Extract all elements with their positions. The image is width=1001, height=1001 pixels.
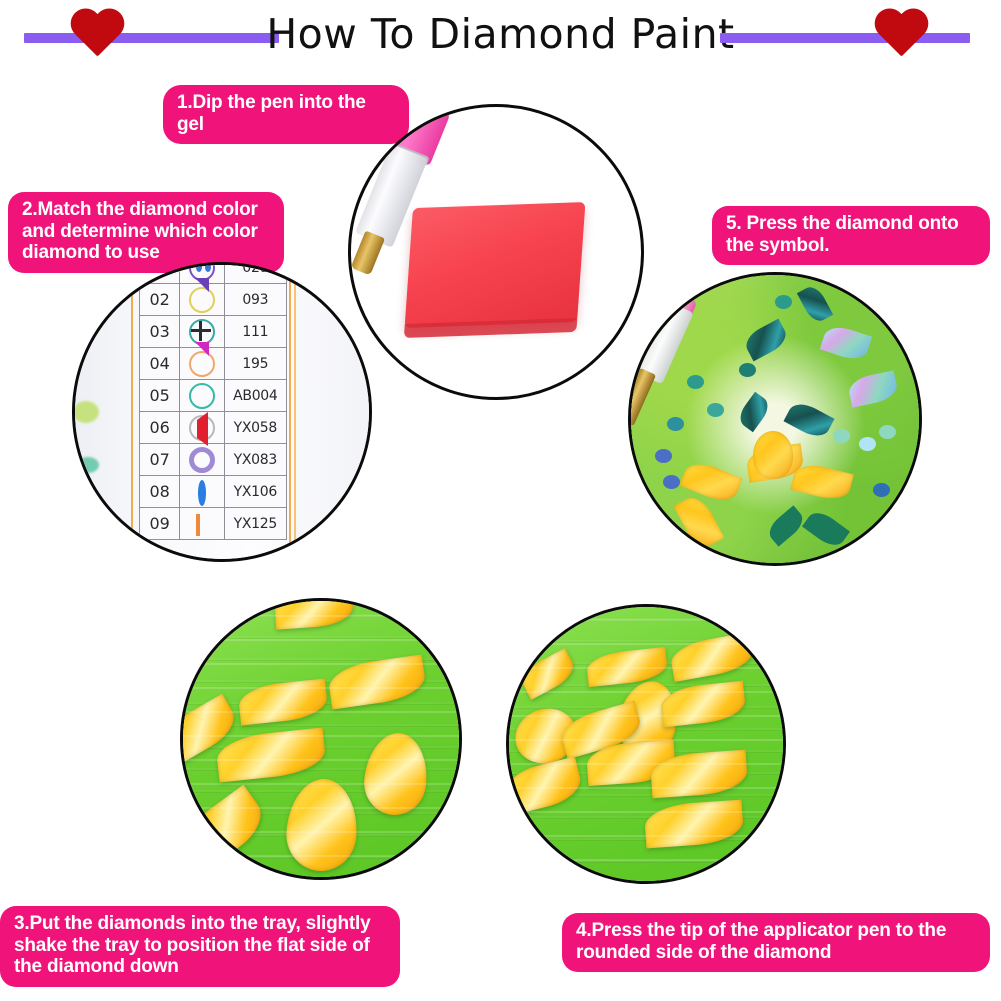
table-row: 07 YX083 [140, 444, 287, 476]
canvas-gem-small [707, 403, 724, 417]
canvas-gem-small [775, 295, 792, 309]
canvas-gem-small [667, 417, 684, 431]
teal-oval-symbol [180, 380, 224, 412]
photo-diamond-tray [180, 598, 462, 880]
blue-ring-symbol [180, 476, 224, 508]
table-row: 09 YX125 [140, 508, 287, 540]
color-code: 093 [224, 284, 286, 316]
canvas-gem [802, 507, 850, 551]
row-number: 04 [140, 348, 180, 380]
canvas-gem [847, 370, 900, 407]
row-number: 02 [140, 284, 180, 316]
row-number [140, 262, 180, 284]
heart-icon [872, 8, 930, 62]
triangle-symbol [180, 284, 224, 316]
canvas-gem [741, 319, 790, 362]
canvas-gem-small [879, 425, 896, 439]
color-legend-table: 028 02 093 03 111 04 [139, 262, 287, 540]
diamond [668, 632, 755, 682]
decorative-bar-right [720, 33, 970, 43]
diamond [659, 681, 747, 728]
photo-press-canvas [628, 272, 922, 566]
diamond-canvas [628, 272, 922, 566]
step-2-label: 2.Match the diamond color and determine … [8, 192, 284, 273]
canvas-gem-small [655, 449, 672, 463]
diamond [586, 647, 669, 687]
step-1-label: 1.Dip the pen into the gel [163, 85, 409, 144]
canvas-gem-small [687, 375, 704, 389]
color-code: YX058 [224, 412, 286, 444]
canvas-gem-small [739, 363, 756, 377]
applicator-pen [628, 286, 703, 441]
guide-line [294, 262, 296, 561]
diamond [612, 676, 684, 760]
yellow-dot-symbol [180, 444, 224, 476]
canvas-gem [783, 398, 834, 442]
pen-tip [506, 660, 519, 715]
diamond [557, 701, 644, 760]
left-arrow-symbol [180, 412, 224, 444]
canvas-gem-yellow [674, 492, 725, 552]
step-5-label: 5. Press the diamond onto the symbol. [712, 206, 990, 265]
diamond [650, 750, 749, 799]
table-row: 03 111 [140, 316, 287, 348]
color-code: YX083 [224, 444, 286, 476]
row-number: 05 [140, 380, 180, 412]
diamond [274, 598, 354, 630]
row-number: 09 [140, 508, 180, 540]
color-code: 028 [224, 262, 286, 284]
diamond [508, 701, 584, 772]
table-row: 028 [140, 262, 287, 284]
row-number: 07 [140, 444, 180, 476]
color-code: YX106 [224, 476, 286, 508]
diamond [180, 694, 242, 765]
pen-body [506, 604, 560, 678]
step-4-label: 4.Press the tip of the applicator pen to… [562, 913, 990, 972]
diamond [517, 648, 579, 700]
chart-paper: 028 02 093 03 111 04 [72, 262, 372, 562]
infographic-canvas: How To Diamond Paint 1.Dip the pen into … [0, 0, 1001, 1001]
table-row: 04 195 [140, 348, 287, 380]
color-code: YX125 [224, 508, 286, 540]
green-leaf-symbol [180, 508, 224, 540]
diamond [644, 800, 745, 849]
magenta-triangle-symbol [180, 348, 224, 380]
step-3-label: 3.Put the diamonds into the tray, slight… [0, 906, 400, 987]
canvas-gem-active [753, 431, 793, 479]
row-number: 03 [140, 316, 180, 348]
row-number: 08 [140, 476, 180, 508]
diamond-tray [180, 598, 462, 880]
gel-pad [405, 202, 586, 328]
table-row: 05 AB004 [140, 380, 287, 412]
canvas-gem [797, 283, 833, 325]
applicator-pen [506, 604, 570, 734]
color-code: 111 [224, 316, 286, 348]
canvas-gem [735, 392, 773, 432]
pen-tip [628, 368, 656, 426]
row-number: 06 [140, 412, 180, 444]
diamond [237, 679, 328, 726]
table-row: 06 YX058 [140, 412, 287, 444]
diamond [284, 777, 360, 874]
color-code: 195 [224, 348, 286, 380]
canvas-gem-yellow [790, 460, 854, 503]
paint-smudge [77, 457, 99, 473]
color-code: AB004 [224, 380, 286, 412]
photo-dip-pen [348, 104, 644, 400]
diamond [506, 756, 585, 815]
table-row: 02 093 [140, 284, 287, 316]
diamond [215, 727, 327, 782]
photo-pen-on-diamond [506, 604, 786, 884]
table-row: 08 YX106 [140, 476, 287, 508]
diamond [180, 785, 271, 870]
guide-line [289, 262, 291, 561]
canvas-gem-small [663, 475, 680, 489]
header: How To Diamond Paint [0, 0, 1001, 75]
diamond [361, 730, 431, 818]
diamond-tray [506, 604, 786, 884]
canvas-gem-small [833, 429, 850, 443]
guide-line [131, 262, 133, 561]
canvas-gem-small [859, 437, 876, 451]
canvas-gem [820, 323, 872, 364]
canvas-gem-small [873, 483, 890, 497]
photo-color-chart: 028 02 093 03 111 04 [72, 262, 372, 562]
diamond [586, 740, 677, 786]
diamond [327, 655, 428, 710]
paint-smudge [73, 401, 99, 423]
